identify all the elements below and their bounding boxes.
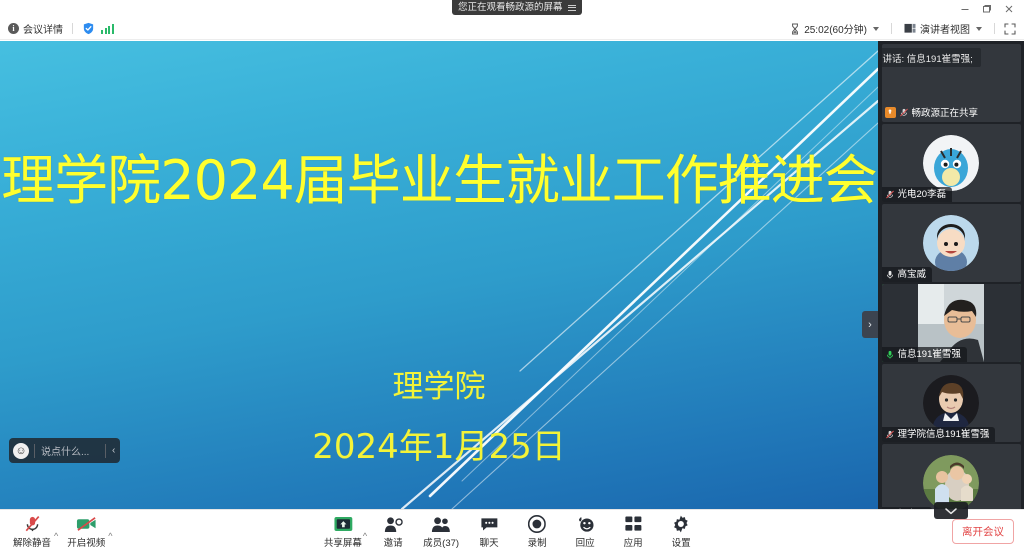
toolbar-left-group: 解除静音 ^ 开启视频 ^ [8, 513, 114, 549]
divider [105, 444, 106, 458]
filmstrip-collapse-tab[interactable]: › [862, 311, 878, 338]
participants-icon [431, 515, 451, 533]
screen-share-notice-text: 您正在观看畅政源的屏幕 [458, 0, 563, 15]
meeting-info-left: i 会议详情 [0, 21, 114, 36]
record-label: 录制 [528, 535, 547, 549]
settings-button[interactable]: 设置 [657, 513, 705, 549]
unmute-button[interactable]: 解除静音 [8, 513, 56, 549]
chat-label: 聊天 [480, 535, 499, 549]
stage-chat-composer[interactable]: ☺ 说点什么... ‹ [9, 438, 120, 463]
screen-share-icon [333, 515, 352, 533]
unmute-label: 解除静音 [13, 535, 51, 549]
view-mode-label: 演讲者视图 [920, 21, 970, 36]
close-button[interactable] [998, 0, 1020, 18]
meeting-timer[interactable]: 25:02(60分钟) [787, 19, 882, 38]
camera-off-icon [76, 515, 97, 533]
speaking-indicator: 正在讲话: 信息191崔雪强; [882, 48, 981, 67]
meeting-info-right: 25:02(60分钟) 演讲者视图 [787, 19, 1024, 38]
drag-handle-icon[interactable] [568, 5, 576, 11]
meeting-timer-label: 25:02(60分钟) [804, 21, 867, 36]
restore-button[interactable] [976, 0, 998, 18]
apps-label: 应用 [624, 535, 643, 549]
leave-meeting-button[interactable]: 离开会议 [952, 519, 1014, 544]
video-options-chevron-icon[interactable]: ^ [108, 531, 112, 549]
share-options-chevron-icon[interactable]: ^ [363, 531, 367, 549]
shared-screen-stage[interactable]: 理学院2024届毕业生就业工作推进会 理学院 2024年1月25日 ☺ 说点什么… [0, 41, 878, 509]
stage-chat-input[interactable]: 说点什么... [41, 443, 103, 458]
participant-name: 光电20李磊 [898, 188, 947, 201]
participant-tile-active[interactable]: 信息191崔雪强 [882, 284, 1021, 362]
chevron-right-icon: › [868, 319, 872, 331]
reaction-icon [576, 515, 595, 533]
participant-tile[interactable]: 理学院信息191崔雪强 [882, 364, 1021, 442]
apps-grid-icon [625, 515, 642, 533]
window-controls [954, 0, 1020, 18]
reaction-button[interactable]: 回应 [561, 513, 609, 549]
start-video-label: 开启视频 [67, 535, 105, 549]
share-screen-button[interactable]: 共享屏幕 [319, 513, 367, 549]
participant-tile[interactable]: 高宝威 [882, 204, 1021, 282]
participant-namebar: 光电20李磊 [882, 187, 953, 202]
participant-tile[interactable]: 光电20李磊 [882, 124, 1021, 202]
share-screen-label: 共享屏幕 [324, 535, 362, 549]
invite-label: 邀请 [384, 535, 403, 549]
emoji-icon[interactable]: ☺ [13, 443, 29, 459]
fullscreen-icon[interactable] [1004, 23, 1016, 35]
participant-namebar: 高宝威 [882, 267, 933, 282]
avatar [923, 135, 979, 191]
participants-button[interactable]: 成员(37) [417, 513, 465, 549]
chat-bubble-icon [480, 515, 499, 533]
participant-namebar: 信息191崔雪强 [882, 347, 967, 362]
divider [34, 444, 35, 458]
start-video-button[interactable]: 开启视频 [62, 513, 110, 549]
info-icon: i [8, 23, 19, 34]
mic-active-icon [885, 349, 895, 360]
chevron-left-icon[interactable]: ‹ [112, 445, 118, 456]
hourglass-icon [790, 23, 800, 35]
record-icon [528, 515, 546, 533]
meeting-toolbar: 解除静音 ^ 开启视频 ^ [0, 509, 1024, 550]
shield-check-icon[interactable] [82, 22, 95, 35]
participant-namebar: 理学院信息191崔雪强 [882, 427, 996, 442]
avatar [923, 375, 979, 431]
participant-tile[interactable]: 正在讲话: 信息191崔雪强; 畅政源正在共享 [882, 44, 1021, 122]
chevron-down-icon [944, 507, 958, 515]
slide-title: 理学院2024届毕业生就业工作推进会 [0, 151, 878, 210]
speaking-indicator-text: 正在讲话: 信息191崔雪强; [882, 51, 973, 65]
layout-icon [904, 23, 916, 34]
apps-button[interactable]: 应用 [609, 513, 657, 549]
screen-share-icon [885, 107, 896, 118]
mic-muted-red-icon [24, 515, 41, 533]
slide-subtitle-org: 理学院 [0, 361, 878, 406]
slide-subtitle-date: 2024年1月25日 [0, 419, 878, 468]
meeting-details-button[interactable]: i 会议详情 [8, 21, 63, 36]
meeting-details-label: 会议详情 [23, 21, 63, 36]
mic-muted-icon [899, 107, 909, 118]
meeting-window: 您正在观看畅政源的屏幕 i 会议详情 [0, 0, 1024, 550]
chat-button[interactable]: 聊天 [465, 513, 513, 549]
mic-muted-icon [885, 189, 895, 200]
gear-icon [672, 515, 690, 533]
participant-name: 信息191崔雪强 [898, 348, 961, 361]
divider [891, 23, 892, 34]
invite-person-icon [384, 515, 403, 533]
participants-label: 成员(37) [423, 535, 459, 549]
divider [994, 23, 995, 34]
title-bar: 您正在观看畅政源的屏幕 [0, 0, 1024, 18]
mic-muted-icon [885, 429, 895, 440]
avatar [923, 215, 979, 271]
mic-icon [885, 269, 895, 280]
reaction-label: 回应 [576, 535, 595, 549]
meeting-info-bar: i 会议详情 25:02(60分钟) [0, 18, 1024, 40]
participant-name: 理学院信息191崔雪强 [898, 428, 990, 441]
signal-bars-icon[interactable] [101, 24, 114, 34]
invite-button[interactable]: 邀请 [369, 513, 417, 549]
minimize-button[interactable] [954, 0, 976, 18]
audio-options-chevron-icon[interactable]: ^ [54, 531, 58, 549]
participant-filmstrip[interactable]: 正在讲话: 信息191崔雪强; 畅政源正在共享 [878, 41, 1024, 509]
chevron-down-icon[interactable] [976, 27, 982, 31]
divider [72, 23, 73, 34]
screen-share-badge: 畅政源正在共享 [885, 105, 979, 119]
settings-label: 设置 [672, 535, 691, 549]
record-button[interactable]: 录制 [513, 513, 561, 549]
filmstrip-scroll-down-button[interactable] [934, 502, 968, 519]
participant-name: 高宝威 [898, 268, 927, 281]
screen-share-notice: 您正在观看畅政源的屏幕 [452, 0, 582, 15]
chevron-down-icon[interactable] [873, 27, 879, 31]
participant-name: 畅政源正在共享 [912, 105, 979, 119]
toolbar-center-group: 共享屏幕 ^ 邀请 [319, 513, 705, 549]
view-mode-button[interactable]: 演讲者视图 [901, 19, 985, 38]
